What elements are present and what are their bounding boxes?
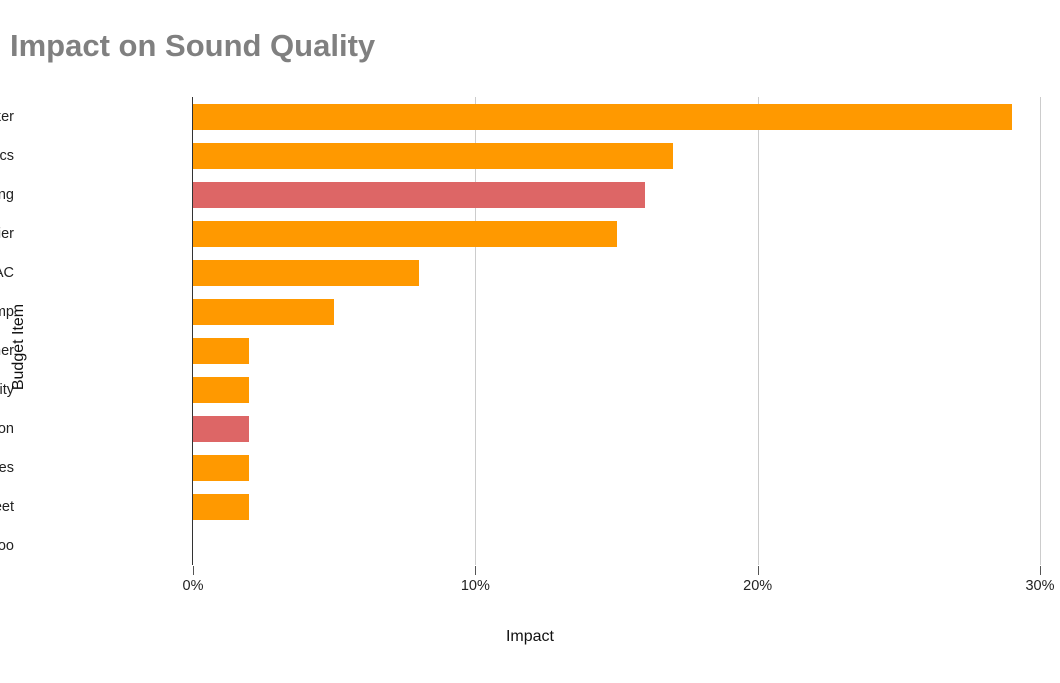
bar[interactable] [193,377,249,403]
x-axis-tick-label: 30% [1025,578,1054,594]
bar[interactable] [193,221,617,247]
x-axis-tick-label: 10% [461,578,490,594]
y-axis-tick-label: Vodoo [0,538,14,554]
gridline [758,97,759,565]
x-axis-tick-mark [1040,566,1041,575]
x-axis-tick-mark [193,566,194,575]
x-axis-tick-mark [758,566,759,575]
bar[interactable] [193,416,249,442]
bar[interactable] [193,143,673,169]
gridline [1040,97,1041,565]
x-axis-title: Impact [0,628,1060,646]
bar-chart: Impact on Sound Quality SpeakerRoom Acou… [0,0,1060,683]
x-axis-tick-label: 20% [743,578,772,594]
plot-area [193,97,1040,565]
bar[interactable] [193,494,249,520]
bar[interactable] [193,299,334,325]
chart-title: Impact on Sound Quality [10,28,375,64]
bar[interactable] [193,182,645,208]
bar[interactable] [193,104,1012,130]
y-axis-tick-label: Absorbers/Feet [0,499,14,515]
x-axis-tick-label: 0% [183,578,204,594]
x-axis-tick-mark [475,566,476,575]
bar[interactable] [193,455,249,481]
y-axis-tick-label: Speaker [0,109,14,125]
y-axis-tick-label: Room Acoustics [0,148,14,164]
y-axis-title: Budget Item [10,197,28,497]
bar[interactable] [193,260,419,286]
bar[interactable] [193,338,249,364]
